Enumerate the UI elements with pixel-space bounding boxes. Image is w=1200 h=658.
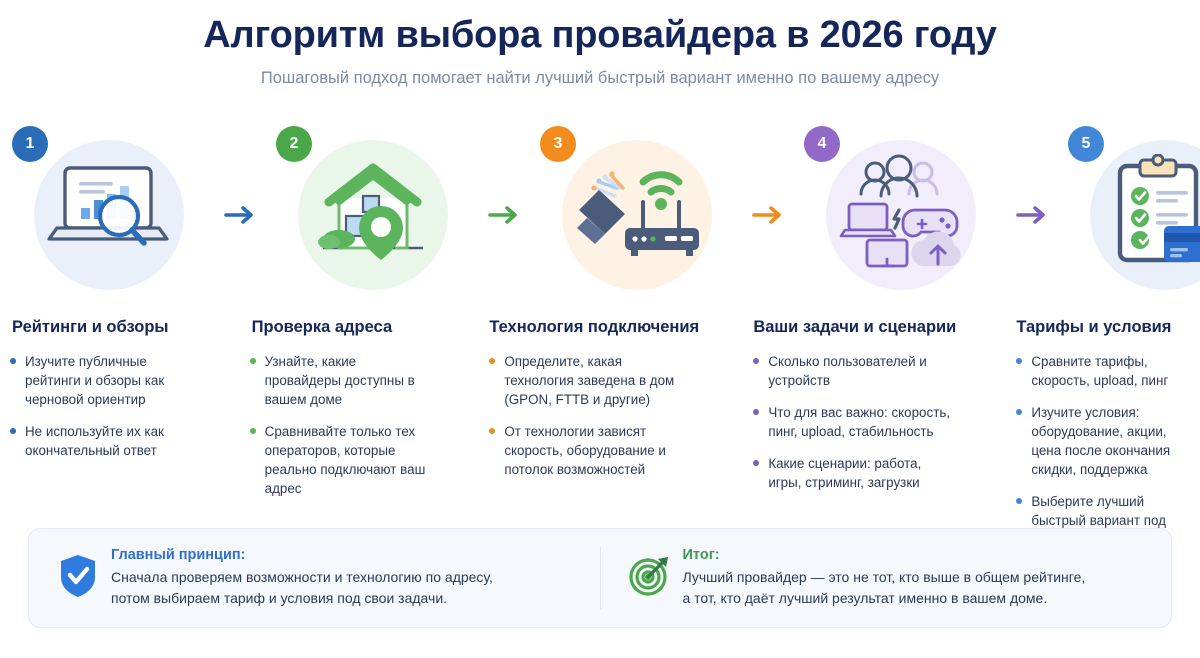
bullet-dot-icon bbox=[10, 428, 16, 434]
principle-panel: Главный принцип: Сначала проверяем возмо… bbox=[29, 547, 600, 609]
column-3: Технология подключения Определите, какая… bbox=[479, 318, 697, 479]
list-item: Сколько пользователей и устройств bbox=[753, 352, 956, 390]
bullet-dot-icon bbox=[753, 409, 759, 415]
step-1-badge: 1 bbox=[12, 126, 48, 162]
step-5-art: 5 bbox=[1056, 126, 1200, 304]
column-2-bullets: Узнайте, какие провайдеры доступны в ваш… bbox=[250, 352, 430, 498]
arrow-1-to-2 bbox=[218, 126, 264, 304]
bullet-text: Сравните тарифы, скорость, upload, пинг bbox=[1031, 354, 1168, 388]
laptop-chart-magnifier-icon bbox=[43, 154, 175, 266]
house-location-pin-icon bbox=[311, 154, 435, 266]
arrow-4-to-5 bbox=[1010, 126, 1056, 304]
arrow-3-to-4 bbox=[746, 126, 792, 304]
arrow-2-to-3 bbox=[482, 126, 528, 304]
column-5: Тарифы и условия Сравните тарифы, скорос… bbox=[1006, 318, 1200, 549]
bullet-text: Сколько пользователей и устройств bbox=[768, 354, 926, 388]
bullet-dot-icon bbox=[250, 358, 256, 364]
list-item: Определите, какая технология заведена в … bbox=[489, 352, 693, 409]
bullet-dot-icon bbox=[250, 428, 256, 434]
bullet-text: Какие сценарии: работа, игры, стриминг, … bbox=[768, 456, 921, 490]
footer-panel: Главный принцип: Сначала проверяем возмо… bbox=[28, 528, 1172, 628]
column-5-title: Тарифы и условия bbox=[1016, 318, 1196, 338]
bullet-dot-icon bbox=[489, 428, 495, 434]
step-4: 4 bbox=[792, 126, 1010, 304]
fiber-cable-router-wifi-icon bbox=[569, 154, 705, 266]
step-3-badge: 3 bbox=[540, 126, 576, 162]
result-panel: Итог: Лучший провайдер — это не тот, кто… bbox=[601, 547, 1172, 609]
page-subtitle: Пошаговый подход помогает найти лучший б… bbox=[0, 69, 1200, 88]
step-2-badge: 2 bbox=[276, 126, 312, 162]
list-item: Сравнивайте только тех операторов, котор… bbox=[250, 422, 430, 498]
principle-line-2: потом выбираем тариф и условия под свои … bbox=[111, 588, 493, 609]
column-4-bullets: Сколько пользователей и устройств Что дл… bbox=[753, 352, 956, 492]
column-4: Ваши задачи и сценарии Сколько пользоват… bbox=[743, 318, 960, 492]
list-item: Узнайте, какие провайдеры доступны в ваш… bbox=[250, 352, 430, 409]
bullet-text: Узнайте, какие провайдеры доступны в ваш… bbox=[265, 354, 415, 407]
bullet-dot-icon bbox=[753, 358, 759, 364]
list-item: Что для вас важно: скорость, пинг, uploa… bbox=[753, 403, 956, 441]
result-text: Итог: Лучший провайдер — это не тот, кто… bbox=[677, 547, 1086, 609]
header: Алгоритм выбора провайдера в 2026 году П… bbox=[0, 0, 1200, 88]
column-4-title: Ваши задачи и сценарии bbox=[753, 318, 956, 338]
list-item: От технологии зависят скорость, оборудов… bbox=[489, 422, 693, 479]
target-dart-icon bbox=[623, 547, 677, 597]
column-1-bullets: Изучите публичные рейтинги и обзоры как … bbox=[10, 352, 190, 460]
principle-text: Главный принцип: Сначала проверяем возмо… bbox=[105, 547, 493, 609]
list-item: Не используйте их как окончательный отве… bbox=[10, 422, 190, 460]
step-4-number: 4 bbox=[818, 135, 827, 153]
step-3-number: 3 bbox=[554, 135, 563, 153]
step-3-art: 3 bbox=[528, 126, 746, 304]
shield-check-icon bbox=[51, 547, 105, 599]
column-2: Проверка адреса Узнайте, какие провайдер… bbox=[240, 318, 434, 498]
bullet-dot-icon bbox=[753, 460, 759, 466]
steps-row: 1 bbox=[0, 126, 1200, 304]
bullet-text: Определите, какая технология заведена в … bbox=[504, 354, 674, 407]
bullet-text: Изучите условия: оборудование, акции, це… bbox=[1031, 405, 1170, 477]
bullet-dot-icon bbox=[1016, 409, 1022, 415]
bullet-text: Не используйте их как окончательный отве… bbox=[25, 424, 164, 458]
step-2: 2 bbox=[264, 126, 482, 304]
clipboard-checklist-card-icon bbox=[1104, 154, 1200, 268]
step-1-art: 1 bbox=[0, 126, 218, 304]
column-2-title: Проверка адреса bbox=[252, 318, 430, 338]
list-item: Изучите условия: оборудование, акции, це… bbox=[1016, 403, 1196, 479]
column-1-title: Рейтинги и обзоры bbox=[12, 318, 190, 338]
list-item: Какие сценарии: работа, игры, стриминг, … bbox=[753, 454, 956, 492]
columns-row: Рейтинги и обзоры Изучите публичные рейт… bbox=[0, 318, 1200, 549]
step-2-art: 2 bbox=[264, 126, 482, 304]
bullet-dot-icon bbox=[1016, 498, 1022, 504]
step-1-number: 1 bbox=[26, 135, 35, 153]
bullet-text: Сравнивайте только тех операторов, котор… bbox=[265, 424, 426, 496]
bullet-text: Что для вас важно: скорость, пинг, uploa… bbox=[768, 405, 950, 439]
result-label: Итог: bbox=[683, 547, 1086, 563]
step-5: 5 bbox=[1056, 126, 1200, 304]
result-line-1: Лучший провайдер — это не тот, кто выше … bbox=[683, 567, 1086, 588]
users-devices-icon bbox=[837, 154, 965, 270]
column-3-title: Технология подключения bbox=[489, 318, 693, 338]
infographic-page: Алгоритм выбора провайдера в 2026 году П… bbox=[0, 0, 1200, 658]
principle-line-1: Сначала проверяем возможности и технолог… bbox=[111, 567, 493, 588]
step-3: 3 bbox=[528, 126, 746, 304]
step-1: 1 bbox=[0, 126, 218, 304]
list-item: Изучите публичные рейтинги и обзоры как … bbox=[10, 352, 190, 409]
bullet-dot-icon bbox=[10, 358, 16, 364]
column-1: Рейтинги и обзоры Изучите публичные рейт… bbox=[0, 318, 194, 460]
principle-label: Главный принцип: bbox=[111, 547, 493, 563]
column-3-bullets: Определите, какая технология заведена в … bbox=[489, 352, 693, 479]
list-item: Сравните тарифы, скорость, upload, пинг bbox=[1016, 352, 1196, 390]
result-line-2: а тот, кто даёт лучший результат именно … bbox=[683, 588, 1086, 609]
step-4-badge: 4 bbox=[804, 126, 840, 162]
step-5-badge: 5 bbox=[1068, 126, 1104, 162]
bullet-text: От технологии зависят скорость, оборудов… bbox=[504, 424, 666, 477]
bullet-dot-icon bbox=[1016, 358, 1022, 364]
step-4-art: 4 bbox=[792, 126, 1010, 304]
page-title: Алгоритм выбора провайдера в 2026 году bbox=[0, 14, 1200, 57]
step-2-number: 2 bbox=[290, 135, 299, 153]
step-5-number: 5 bbox=[1082, 135, 1091, 153]
bullet-dot-icon bbox=[489, 358, 495, 364]
column-5-bullets: Сравните тарифы, скорость, upload, пинг … bbox=[1016, 352, 1196, 549]
bullet-text: Изучите публичные рейтинги и обзоры как … bbox=[25, 354, 164, 407]
